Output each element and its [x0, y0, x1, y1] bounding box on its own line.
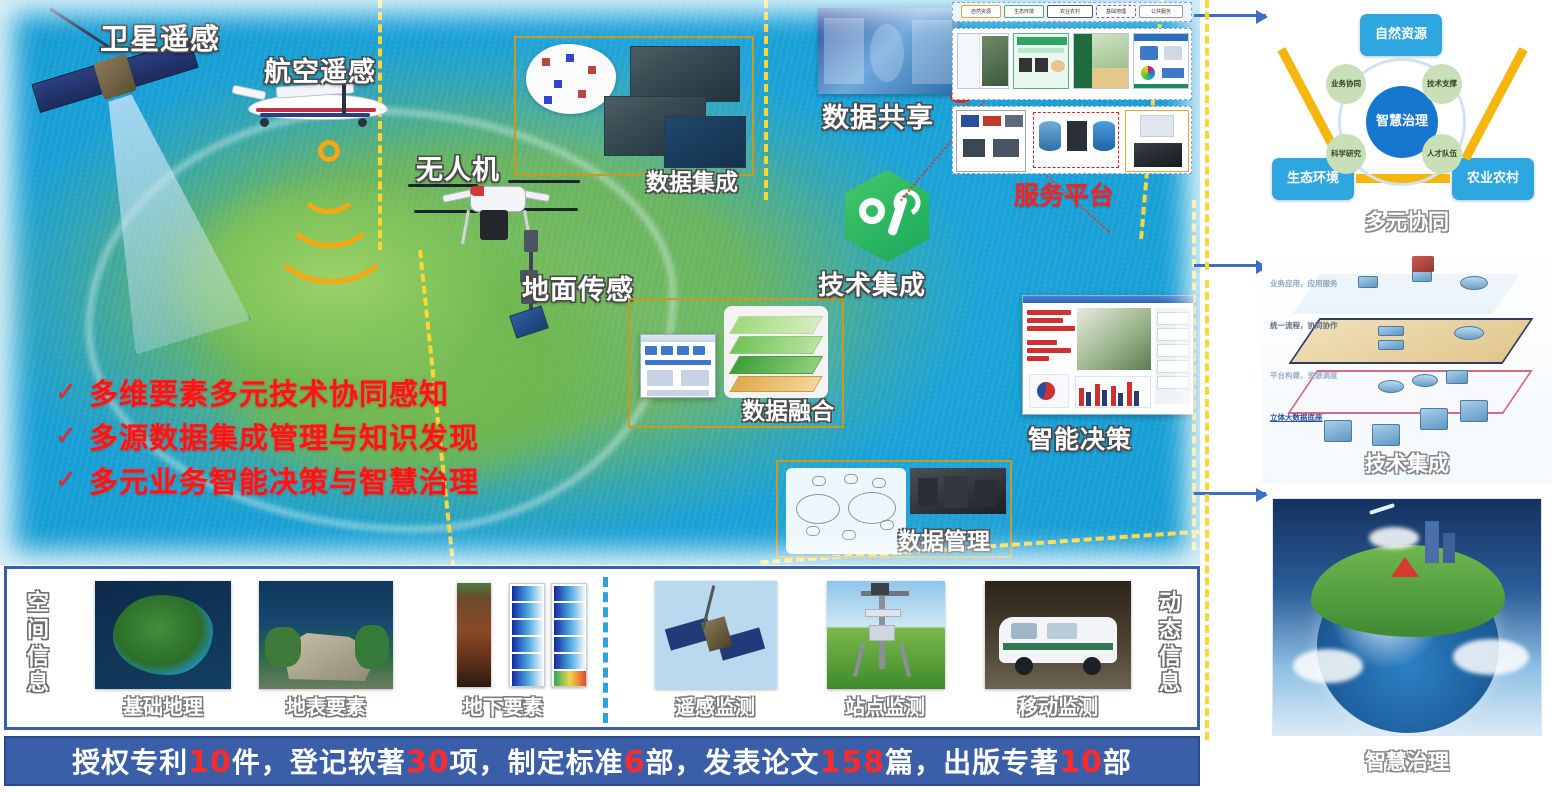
tab-eco-environment[interactable]: 生态环境 — [1004, 5, 1044, 18]
tri-node-label: 自然资源 — [1375, 28, 1427, 43]
collaboration-satellite-3: 科学研究 — [1326, 134, 1366, 174]
caption-station-monitoring: 站点监测 — [803, 691, 967, 720]
achievement-label: 件，登记软著 — [232, 746, 406, 779]
ground-sensor-box-1 — [524, 230, 538, 252]
aircraft-gear-front — [358, 118, 367, 127]
storage-group[interactable] — [1125, 110, 1189, 172]
signal-waves — [262, 138, 402, 238]
label-spatial-info: 空间信息 — [21, 591, 55, 698]
list-item: ✓ 多维要素多元技术协同感知 — [55, 370, 479, 414]
service-platform-app-row — [952, 28, 1192, 100]
thumb-fusion-app — [640, 334, 716, 398]
panel-technology-integration: 业务应用，应用服务 统一流程，协同协作 平台构建，资源调度 立体大数据底座 技术… — [1262, 252, 1552, 484]
thumb-network-topology — [786, 468, 906, 554]
globe-building-1 — [1425, 521, 1439, 563]
database-group[interactable] — [1033, 112, 1119, 168]
layer-node-3 — [1454, 326, 1484, 340]
thumb-satellite — [655, 581, 777, 689]
aircraft-gear-rear — [260, 118, 269, 127]
thumb-network-map — [526, 44, 616, 114]
label-service-platform: 服务平台 — [1014, 176, 1114, 212]
thumb-monitoring-van — [985, 581, 1131, 689]
achievements-banner: 授权专利10件，登记软著30项，制定标准6部，发表论文158篇，出版专著10部 — [4, 736, 1200, 786]
arrow-to-collaboration — [1194, 14, 1266, 17]
thumb-data-sharing-banner — [818, 8, 958, 94]
gear-icon — [859, 198, 885, 224]
list-item: ✓ 多源数据集成管理与知识发现 — [55, 414, 479, 458]
collaboration-satellite-2: 技术支撑 — [1422, 64, 1462, 104]
tri-node-label: 生态环境 — [1287, 172, 1339, 187]
label-data-integration: 数据集成 — [646, 163, 738, 197]
aircraft-tail — [231, 85, 266, 101]
tab-agriculture[interactable]: 农业农村 — [1047, 5, 1093, 18]
list-item: ✓ 多元业务智能决策与智慧治理 — [55, 458, 479, 502]
tri-node-agriculture: 农业农村 — [1452, 158, 1534, 200]
tab-natural-resources[interactable]: 自然资源 — [961, 5, 1001, 18]
wrench-icon — [887, 196, 908, 237]
key-point-text: 多源数据集成管理与知识发现 — [89, 415, 479, 457]
arrow-to-tech-integration — [1194, 264, 1266, 267]
label-ground-sensor: 地面传感 — [522, 268, 634, 307]
achievement-number: 158 — [820, 745, 886, 780]
poster-root: 卫星遥感 航空遥感 — [0, 0, 1560, 792]
layer-icon-4 — [1412, 256, 1434, 272]
wave-arc-3 — [266, 178, 396, 284]
achievement-label: 项，制定标准 — [450, 746, 624, 779]
thumb-decision-dashboard — [1022, 295, 1194, 415]
service-platform-panel: 自然资源生态环境农业农村基础地理公共服务 — [952, 2, 1192, 174]
uav-camera — [480, 210, 508, 240]
caption-underground-elements: 地下要素 — [413, 691, 593, 720]
cell-mobile-monitoring[interactable]: 移动监测 — [969, 581, 1147, 721]
achievement-number: 10 — [188, 745, 232, 780]
layer-label-1: 业务应用，应用服务 — [1270, 278, 1338, 289]
key-points-list: ✓ 多维要素多元技术协同感知 ✓ 多源数据集成管理与知识发现 ✓ 多元业务智能决… — [55, 370, 479, 502]
layer-res-1 — [1378, 380, 1404, 393]
caption-mobile-monitoring: 移动监测 — [969, 691, 1147, 720]
cell-remote-sensing-monitoring[interactable]: 遥感监测 — [633, 581, 797, 721]
key-point-text: 多元业务智能决策与智慧治理 — [89, 459, 479, 501]
satellite-label: 技术支撑 — [1427, 80, 1457, 89]
achievement-label: 部 — [1103, 746, 1132, 779]
dashed-boundary-3 — [764, 0, 768, 200]
label-aerial-remote-sensing: 航空遥感 — [264, 50, 376, 89]
uav-rotor-2 — [508, 180, 580, 183]
label-technology-integration: 技术集成 — [818, 265, 926, 302]
ground-sensor-solar-panel — [509, 305, 549, 338]
thumb-satellite-tile-1 — [630, 46, 740, 102]
globe-cloud-3 — [1369, 527, 1419, 549]
caption-technology-integration: 技术集成 — [1262, 448, 1552, 478]
tab-public-service[interactable]: 公共服务 — [1139, 5, 1183, 18]
tri-node-label: 农业农村 — [1467, 172, 1519, 187]
bottom-info-strip: 空间信息 基础地理 地表要素 — [4, 566, 1200, 730]
panel-smart-governance: 智慧治理 — [1262, 498, 1552, 786]
tab-base-geography[interactable]: 基础地理 — [1096, 5, 1136, 18]
achievement-number: 6 — [624, 745, 646, 780]
panel-multi-collaboration: 自然资源 生态环境 农业农村 智慧治理 业务协同 技术支撑 科学研究 人才队伍 … — [1262, 6, 1552, 244]
layer-res-2 — [1412, 374, 1438, 387]
tri-arrow-right — [1461, 47, 1527, 161]
label-intelligent-decision: 智能决策 — [1028, 420, 1132, 456]
caption-remote-sensing-monitoring: 遥感监测 — [633, 691, 797, 720]
layer-label-4: 立体大数据底座 — [1270, 412, 1323, 423]
check-icon: ✓ — [55, 465, 77, 495]
app-thumb-4[interactable] — [1133, 33, 1189, 89]
uav-marking-red — [470, 186, 484, 196]
callout-data-integration — [514, 36, 754, 176]
check-icon: ✓ — [55, 421, 77, 451]
uav-leg-left — [461, 210, 470, 244]
cell-base-geography[interactable]: 基础地理 — [85, 581, 241, 721]
achievement-label: 授权专利 — [72, 746, 188, 779]
achievement-label: 部，发表论文 — [646, 746, 820, 779]
aircraft-stripe-red — [256, 108, 376, 112]
globe-cloud-2 — [1453, 639, 1529, 675]
app-thumb-3[interactable] — [1073, 33, 1129, 89]
achievement-number: 10 — [1059, 745, 1103, 780]
caption-surface-elements: 地表要素 — [251, 691, 401, 720]
tri-node-natural-resources: 自然资源 — [1360, 14, 1442, 56]
thumb-profile-chart-1 — [509, 583, 545, 687]
achievement-number: 30 — [406, 745, 450, 780]
app-thumb-2[interactable] — [1013, 33, 1069, 89]
layer-label-3: 平台构建，资源调度 — [1270, 370, 1338, 381]
app-thumb-1[interactable] — [957, 33, 1009, 89]
device-group[interactable] — [956, 110, 1026, 172]
layer-node-2 — [1378, 340, 1404, 350]
achievements-text: 授权专利10件，登记软著30项，制定标准6部，发表论文158篇，出版专著10部 — [72, 741, 1132, 781]
right-dashed-separator-2 — [1205, 280, 1209, 740]
layer-icon-3 — [1460, 276, 1488, 290]
cell-underground-elements[interactable]: 地下要素 — [413, 581, 593, 721]
server-2 — [1372, 424, 1400, 446]
label-satellite-remote-sensing: 卫星遥感 — [100, 16, 220, 58]
thumb-soil-core — [457, 583, 491, 687]
thumb-layered-terrain — [724, 306, 828, 398]
globe-image — [1272, 498, 1542, 736]
layer-res-3 — [1446, 370, 1468, 384]
arrow-to-governance — [1194, 492, 1266, 495]
caption-smart-governance: 智慧治理 — [1262, 746, 1552, 776]
thumb-profile-chart-2 — [551, 583, 587, 687]
layer-label-2: 统一流程，协同协作 — [1270, 320, 1338, 331]
thumb-island-aerial — [95, 581, 231, 689]
thumb-satellite-tile-3 — [664, 116, 746, 168]
collaboration-satellite-4: 人才队伍 — [1422, 134, 1462, 174]
right-dashed-separator-1 — [1205, 0, 1209, 270]
label-data-sharing: 数据共享 — [822, 96, 934, 135]
achievement-label: 篇，出版专著 — [885, 746, 1059, 779]
layer-icon-1 — [1358, 276, 1378, 288]
label-dynamic-info: 动态信息 — [1153, 591, 1187, 698]
satellite-label: 科学研究 — [1331, 150, 1361, 159]
caption-multi-collaboration: 多元协同 — [1262, 206, 1552, 236]
layer-node-1 — [1378, 326, 1404, 336]
aircraft-stripe-blue — [260, 113, 370, 117]
thumb-server-rack — [910, 468, 1006, 514]
caption-base-geography: 基础地理 — [85, 691, 241, 720]
collaboration-center-label: 智慧治理 — [1376, 114, 1428, 130]
technology-integration-icon — [845, 170, 929, 262]
globe-cloud-1 — [1293, 649, 1363, 683]
label-data-management: 数据管理 — [898, 522, 990, 556]
satellite-label: 人才队伍 — [1427, 150, 1457, 159]
service-platform-tab-row: 自然资源生态环境农业农村基础地理公共服务 — [952, 2, 1192, 22]
server-1 — [1324, 420, 1352, 442]
cell-station-monitoring[interactable]: 站点监测 — [803, 581, 967, 721]
check-icon: ✓ — [55, 377, 77, 407]
server-3 — [1420, 408, 1448, 430]
globe-building-2 — [1443, 533, 1455, 563]
satellite-label: 业务协同 — [1331, 80, 1361, 89]
service-platform-device-row — [952, 106, 1192, 174]
strip-divider — [603, 577, 608, 723]
thumb-weather-station — [827, 581, 945, 689]
thumb-terrain-3d — [259, 581, 393, 689]
key-point-text: 多维要素多元技术协同感知 — [89, 371, 449, 413]
dashboard-titlebar — [1023, 296, 1193, 303]
collaboration-satellite-1: 业务协同 — [1326, 64, 1366, 104]
server-4 — [1460, 400, 1488, 422]
label-data-fusion: 数据融合 — [742, 392, 834, 426]
cell-surface-elements[interactable]: 地表要素 — [251, 581, 401, 721]
label-uav: 无人机 — [416, 148, 500, 187]
